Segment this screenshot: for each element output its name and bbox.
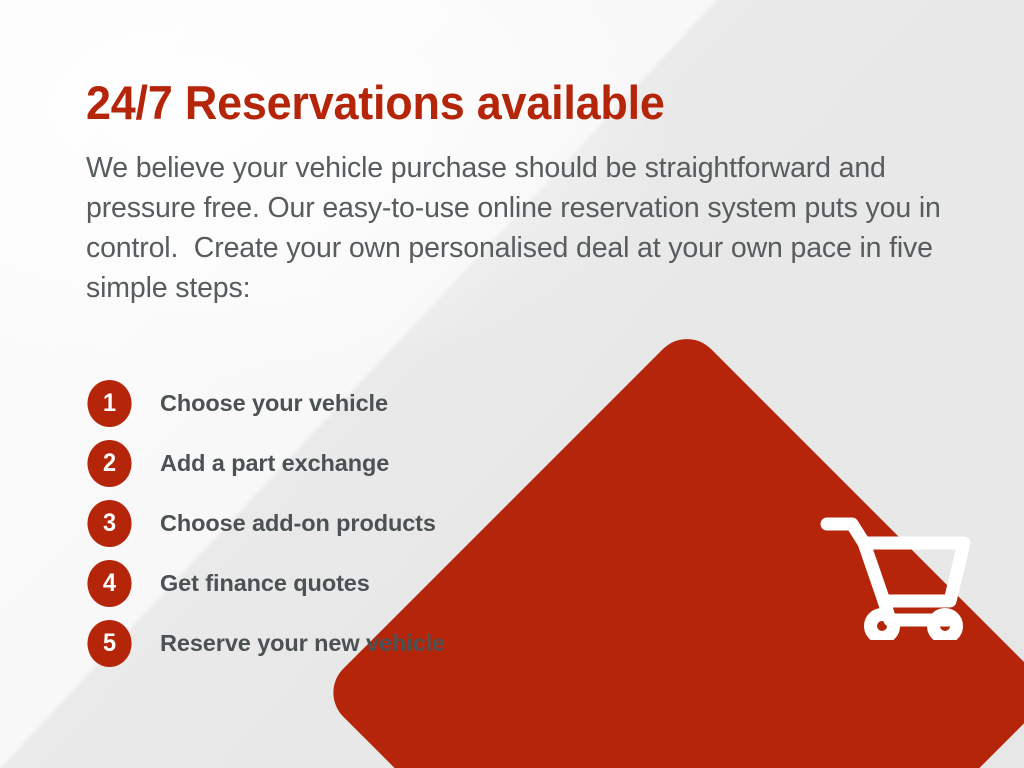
promo-slide: 24/7 Reservations available We believe y… (0, 0, 1024, 768)
list-item-step-5: 5 Reserve your new vehicle (86, 613, 966, 673)
list-item-step-1: 1 Choose your vehicle (86, 373, 966, 433)
step-number-badge: 2 (87, 440, 131, 487)
step-number-badge: 1 (87, 380, 131, 427)
step-label: Choose your vehicle (160, 390, 388, 417)
slide-content: 24/7 Reservations available We believe y… (86, 78, 966, 673)
intro-paragraph: We believe your vehicle purchase should … (86, 148, 956, 308)
step-number-badge: 4 (87, 560, 131, 607)
step-label: Add a part exchange (160, 450, 389, 477)
step-number-badge: 5 (87, 620, 131, 667)
list-item-step-2: 2 Add a part exchange (86, 433, 966, 493)
step-label: Choose add-on products (160, 510, 436, 537)
page-title: 24/7 Reservations available (86, 78, 926, 127)
step-label: Get finance quotes (160, 570, 370, 597)
steps-list: 1 Choose your vehicle 2 Add a part excha… (86, 373, 966, 673)
step-number-badge: 3 (87, 500, 131, 547)
step-label: Reserve your new vehicle (160, 630, 445, 657)
list-item-step-4: 4 Get finance quotes (86, 553, 966, 613)
list-item-step-3: 3 Choose add-on products (86, 493, 966, 553)
